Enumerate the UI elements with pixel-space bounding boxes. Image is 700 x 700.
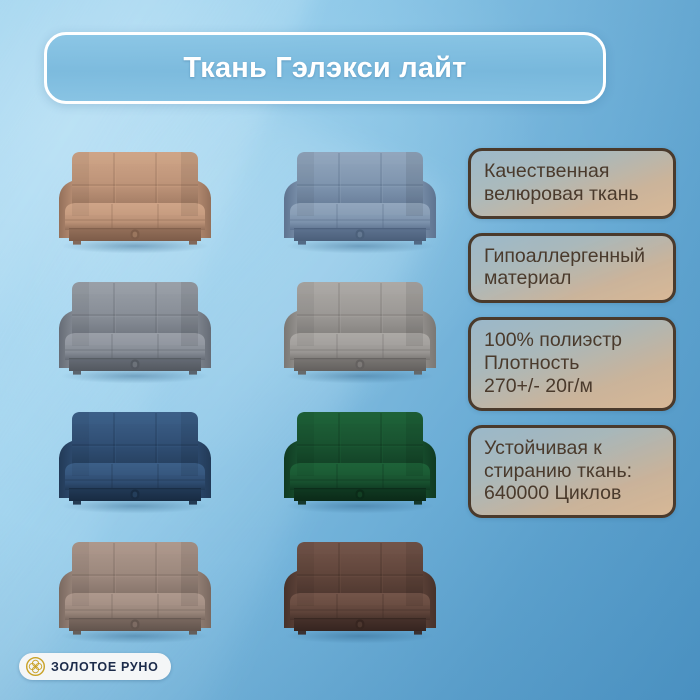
brand-name: ЗОЛОТОЕ РУНО	[51, 660, 159, 674]
feature-line: 640000 Циклов	[484, 482, 662, 505]
feature-line: Гипоаллергенный	[484, 245, 662, 268]
sofa-swatch-navy[interactable]	[45, 400, 225, 518]
feature-line: стиранию ткань:	[484, 460, 662, 483]
feature-badge-list: Качественная велюровая ткань Гипоаллерге…	[468, 148, 676, 532]
feature-line: Устойчивая к	[484, 437, 662, 460]
sofa-swatch-light-grey[interactable]	[270, 270, 450, 388]
feature-badge-quality: Качественная велюровая ткань	[468, 148, 676, 219]
sofa-swatch-brown[interactable]	[270, 530, 450, 648]
feature-badge-hypoallergenic: Гипоаллергенный материал	[468, 233, 676, 304]
sofa-swatch-forest-green[interactable]	[270, 400, 450, 518]
feature-badge-composition: 100% полиэстр Плотность 270+/- 20г/м	[468, 317, 676, 410]
poster-canvas: Ткань Гэлэкси лайт	[0, 0, 700, 700]
feature-line: материал	[484, 267, 662, 290]
feature-line: велюровая ткань	[484, 183, 662, 206]
feature-line: Качественная	[484, 160, 662, 183]
feature-line: Плотность	[484, 352, 662, 375]
rosette-icon	[26, 657, 45, 676]
sofa-swatch-steel-blue[interactable]	[270, 140, 450, 258]
feature-line: 100% полиэстр	[484, 329, 662, 352]
feature-line: 270+/- 20г/м	[484, 375, 662, 398]
feature-badge-abrasion: Устойчивая к стиранию ткань: 640000 Цикл…	[468, 425, 676, 518]
brand-logo: ЗОЛОТОЕ РУНО	[19, 653, 171, 680]
sofa-swatch-taupe[interactable]	[45, 530, 225, 648]
sofa-swatch-beige[interactable]	[45, 140, 225, 258]
sofa-swatch-grey[interactable]	[45, 270, 225, 388]
